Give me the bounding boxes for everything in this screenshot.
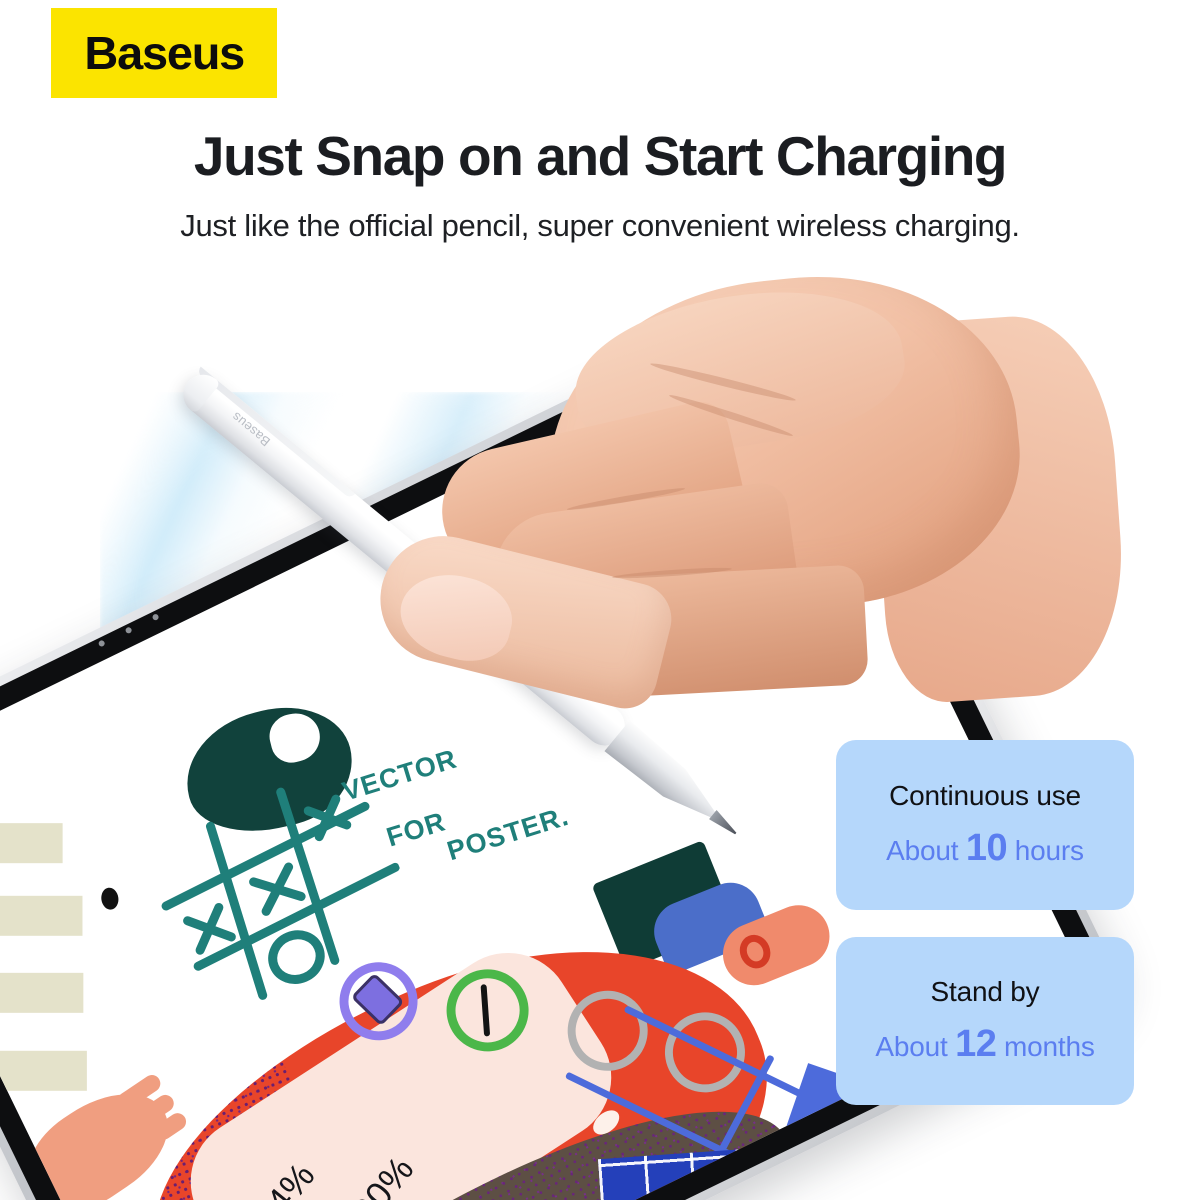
eye-dot xyxy=(100,887,120,911)
spec-prefix: About xyxy=(875,1031,947,1062)
spec-unit: months xyxy=(1004,1031,1095,1062)
microphone-dot xyxy=(98,639,106,647)
microphone-dot xyxy=(152,613,160,621)
spec-card-continuous-use: Continuous use About 10 hours xyxy=(836,740,1134,910)
spec-number: 12 xyxy=(955,1023,996,1065)
spec-number: 10 xyxy=(966,827,1007,869)
cream-stripe xyxy=(0,896,82,936)
spec-card-value: About 10 hours xyxy=(886,828,1084,870)
spec-prefix: About xyxy=(886,835,958,866)
poster-canvas: Baseus Just Snap on and Start Charging J… xyxy=(0,0,1200,1200)
spec-card-title: Stand by xyxy=(931,977,1040,1008)
handwriting-line-3: POSTER. xyxy=(444,801,573,867)
spec-card-value: About 12 months xyxy=(875,1024,1094,1066)
spec-card-stand-by: Stand by About 12 months xyxy=(836,937,1134,1105)
cream-stripe xyxy=(0,823,63,863)
ring-mark xyxy=(735,930,776,973)
hand-holding-stylus xyxy=(398,260,1098,780)
spec-unit: hours xyxy=(1015,835,1084,866)
brand-name: Baseus xyxy=(84,30,244,76)
handwriting-line-2: FOR xyxy=(383,806,449,853)
microphone-dot xyxy=(125,626,133,634)
page-subtitle: Just like the official pencil, super con… xyxy=(0,207,1200,244)
cream-stripe xyxy=(0,973,83,1013)
brand-logo-badge: Baseus xyxy=(51,8,277,98)
spec-card-title: Continuous use xyxy=(889,781,1081,812)
cream-stripe xyxy=(0,1051,87,1091)
page-title: Just Snap on and Start Charging xyxy=(0,128,1200,186)
